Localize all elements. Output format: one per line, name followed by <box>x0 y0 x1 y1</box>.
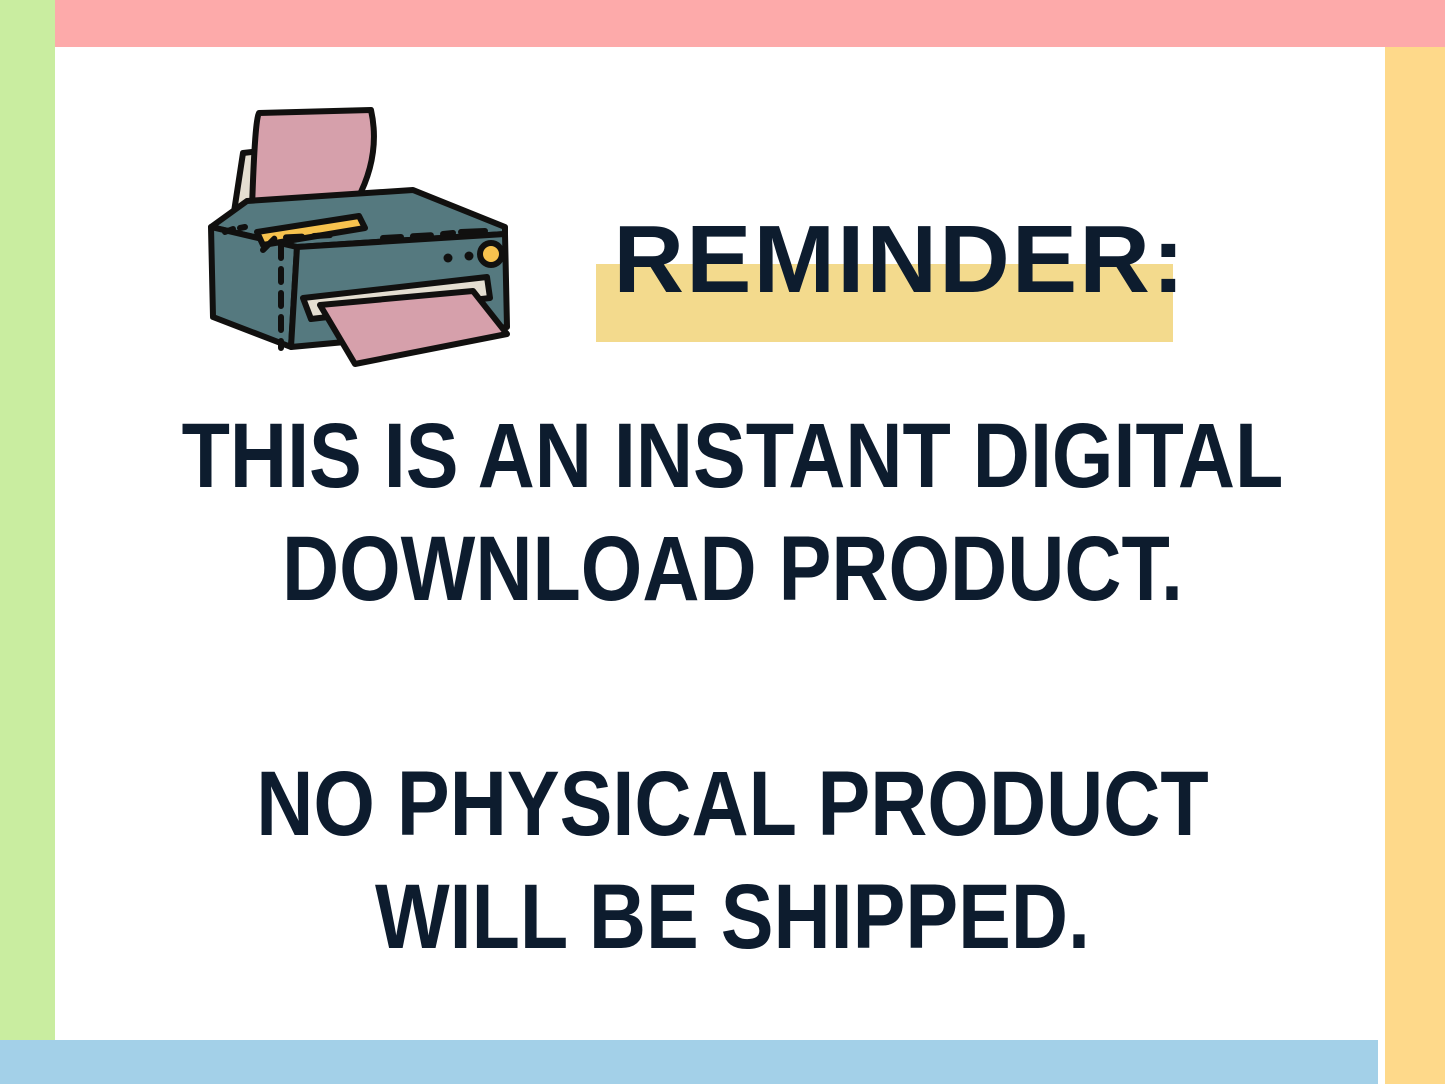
poster-canvas: REMINDER: THIS IS AN INSTANT DIGITAL DOW… <box>0 0 1445 1084</box>
printer-status-dot-1 <box>444 254 453 263</box>
printer-seam-dot-d <box>240 227 245 228</box>
printer-seam-dot-b <box>461 231 485 232</box>
printer-status-dot-2 <box>465 252 474 261</box>
printer-left-face <box>211 227 297 347</box>
page-title: REMINDER: <box>553 200 1247 320</box>
notice-paragraph-instant-download: THIS IS AN INSTANT DIGITAL DOWNLOAD PROD… <box>180 400 1285 626</box>
decorative-bar-top-pink <box>55 0 1445 47</box>
decorative-bar-right-yellow <box>1385 47 1445 1084</box>
decorative-bar-left-green <box>0 0 55 1040</box>
notice-paragraph-no-shipping: NO PHYSICAL PRODUCT WILL BE SHIPPED. <box>180 748 1285 974</box>
printer-output-sheet <box>320 291 507 364</box>
printer-icon-svg <box>185 95 545 380</box>
body-copy-block: THIS IS AN INSTANT DIGITAL DOWNLOAD PROD… <box>90 400 1375 974</box>
printer-power-button <box>480 243 502 265</box>
printer-icon <box>185 95 545 380</box>
headline-block: REMINDER: <box>560 200 1240 350</box>
printer-seam-dot-c <box>225 229 233 232</box>
decorative-bar-bottom-blue <box>0 1040 1378 1084</box>
printer-seam-dot-a <box>443 233 453 234</box>
